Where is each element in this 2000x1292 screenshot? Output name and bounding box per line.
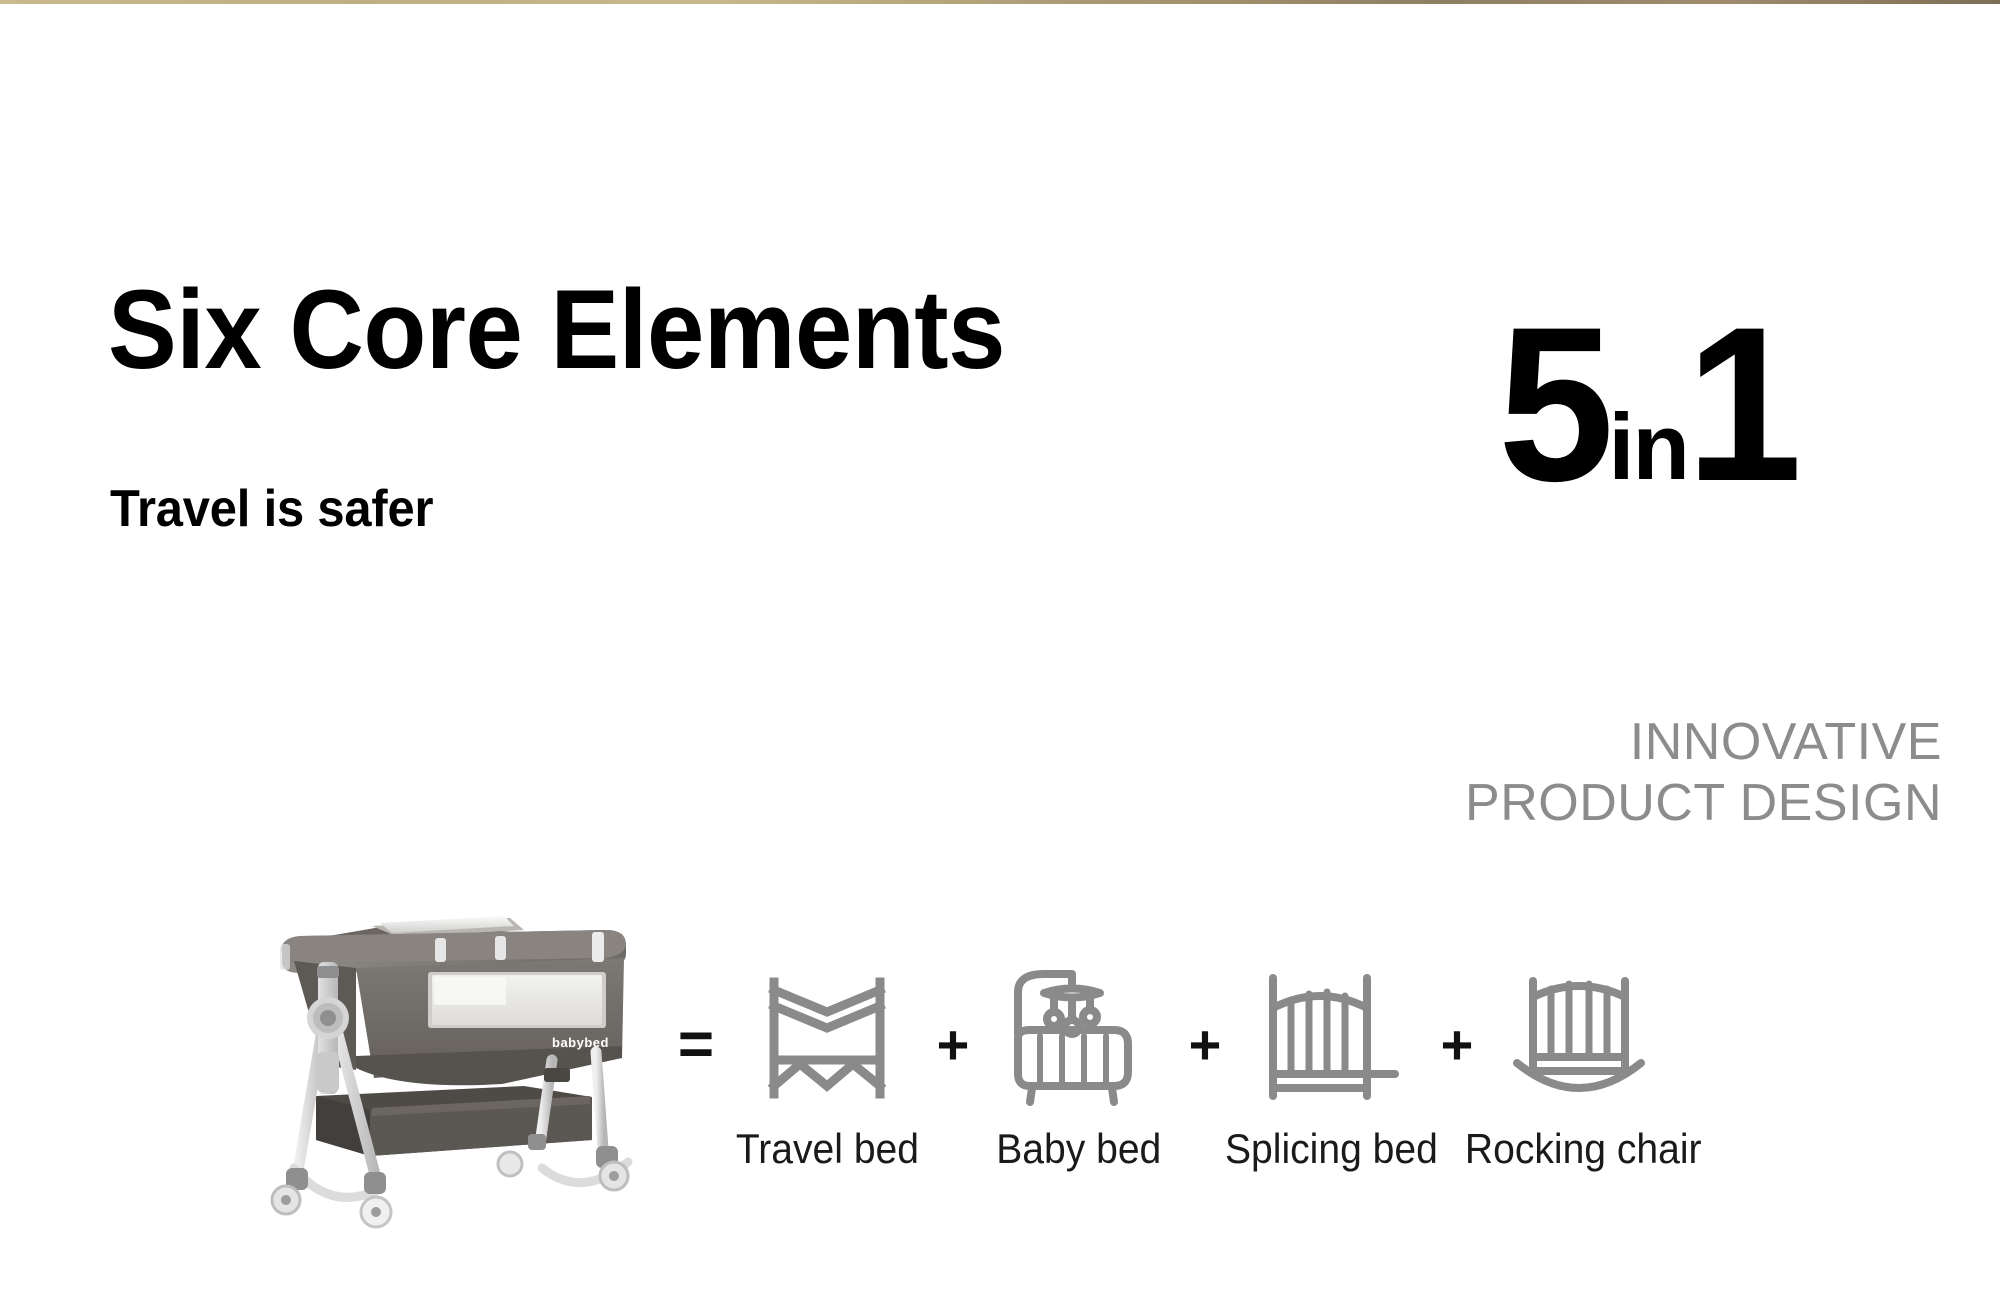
tagline-line-1: INNOVATIVE xyxy=(1465,712,1942,773)
tagline: INNOVATIVE PRODUCT DESIGN xyxy=(1465,712,1942,835)
baby-bed-icon xyxy=(999,960,1159,1116)
five-in-one-badge: 5 in 1 xyxy=(1498,262,1802,492)
product-brand-logo: babybed xyxy=(552,1035,609,1050)
side-clip xyxy=(544,1068,570,1082)
equation-item-travel-bed: Travel bed xyxy=(732,960,922,1170)
product-photo: babybed xyxy=(252,900,668,1230)
tagline-line-2: PRODUCT DESIGN xyxy=(1465,773,1942,834)
equation-item-label: Rocking chair xyxy=(1465,1128,1702,1170)
travel-bed-icon xyxy=(747,960,907,1116)
page-subtitle: Travel is safer xyxy=(110,483,433,535)
plus-symbol-1: + xyxy=(922,960,984,1130)
equation-item-label: Travel bed xyxy=(735,1128,918,1170)
page-title: Six Core Elements xyxy=(108,274,1005,386)
equation-item-splicing-bed: Splicing bed xyxy=(1236,960,1426,1170)
promo-banner: Six Core Elements Travel is safer 5 in 1… xyxy=(0,0,2000,1292)
equation-row: = Travel bed + xyxy=(660,960,1960,1220)
equation-item-label: Splicing bed xyxy=(1225,1128,1438,1170)
plus-symbol-2: + xyxy=(1174,960,1236,1130)
equation-item-rocking-chair: Rocking chair xyxy=(1488,960,1678,1170)
equation-item-baby-bed: Baby bed xyxy=(984,960,1174,1170)
equation-item-label: Baby bed xyxy=(996,1128,1161,1170)
plus-symbol-3: + xyxy=(1426,960,1488,1130)
badge-connector: in xyxy=(1608,409,1688,484)
badge-count: 5 xyxy=(1498,316,1609,492)
splicing-bed-icon xyxy=(1251,960,1411,1116)
badge-total: 1 xyxy=(1686,316,1797,492)
equals-symbol: = xyxy=(660,960,732,1130)
top-accent-stripe xyxy=(0,0,2000,4)
rocking-chair-icon xyxy=(1503,960,1663,1116)
